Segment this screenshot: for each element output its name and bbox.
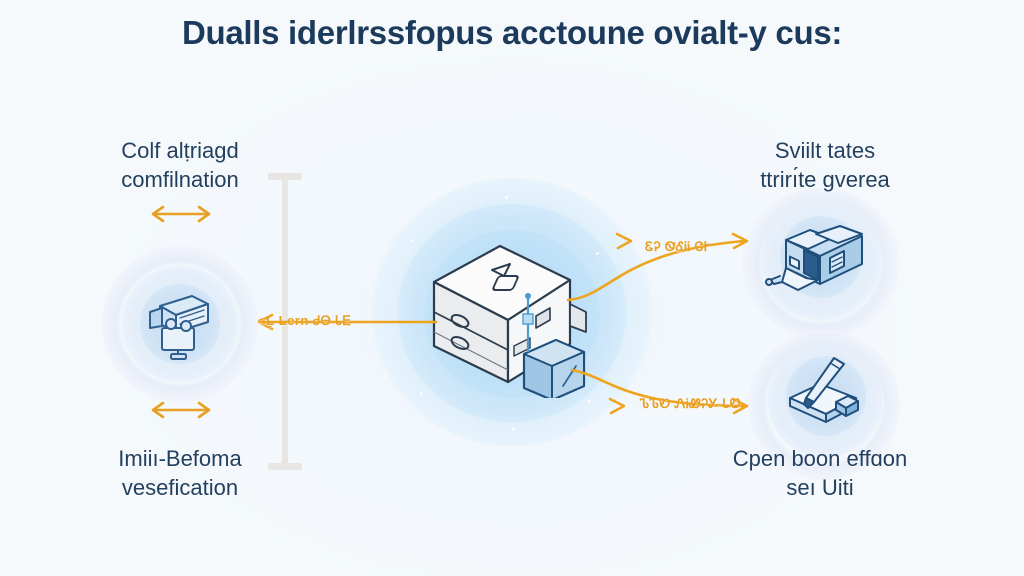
connector-label-center-to-bottom-right: ᏖᏖᎧ ᏁᎥᏪᎮᎩ-ᏓᏬ: [640, 396, 741, 412]
sparkle-dot: [512, 428, 515, 431]
pen-writing-icon: [780, 352, 872, 432]
bracket-cap-bottom: [268, 463, 302, 470]
double-headed-arrow-top: [146, 203, 216, 225]
page-title: Dualls iderlrssfopus acctoune ovialt-y c…: [0, 14, 1024, 52]
bracket-cap-top: [268, 173, 302, 180]
left-node-label: Colf alṭriagd comfilnation: [60, 136, 300, 194]
bottom-left-node-label: Imiiı-Bеfoma vesefication: [60, 444, 300, 502]
sparkle-dot: [588, 400, 591, 403]
isometric-machine-icon: [418, 228, 598, 398]
bottom-right-node-label: Cpen boon effɑon seı Uiti: [680, 444, 960, 502]
warehouse-building-icon: [760, 222, 870, 298]
sparkle-dot: [505, 196, 508, 199]
top-right-node-label: Sviilt tates ttrirı́te gverea: [700, 136, 950, 194]
double-headed-arrow-bottom: [146, 399, 216, 421]
printing-machine-icon: [146, 288, 216, 360]
connector-label-center-to-left: <Ḷ Lern ᏧᎾ ᏓᎬ: [258, 313, 351, 329]
infographic-canvas: Dualls iderlrssfopus acctoune ovialt-y c…: [0, 0, 1024, 576]
sparkle-dot: [411, 239, 414, 242]
connector-label-center-to-top-right: ᏋᎮ ᏫᡃᎴᎥᎥ ᏣᎨ: [645, 232, 711, 255]
